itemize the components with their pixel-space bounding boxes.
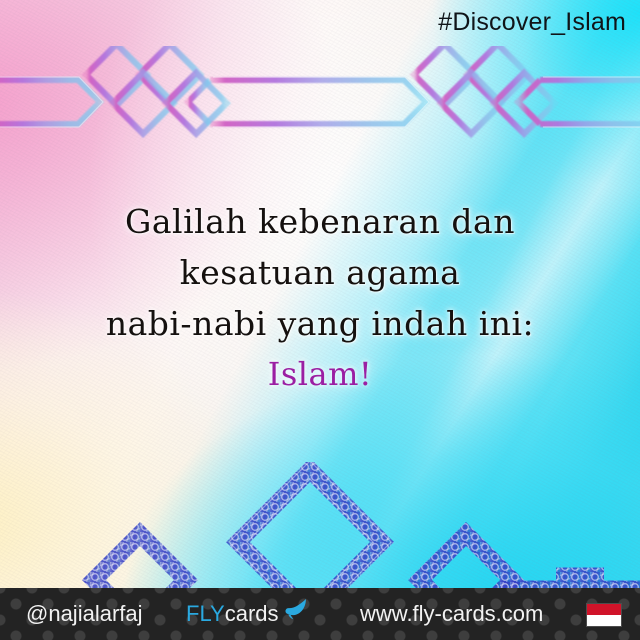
dove-icon xyxy=(282,598,308,626)
indonesia-flag-icon xyxy=(586,603,622,627)
flag-stripe-white xyxy=(587,615,621,626)
quote-line-3: nabi-nabi yang indah ini: xyxy=(0,298,640,349)
top-ornament xyxy=(0,46,640,166)
quote-block: Galilah kebenaran dan kesatuan agama nab… xyxy=(0,196,640,400)
bottom-ornament xyxy=(0,462,640,592)
social-quote-card: #Discover_Islam Galilah kebenaran dan ke… xyxy=(0,0,640,640)
footer-bar: @najialarfaj FLY cards www.fly-cards.com xyxy=(0,588,640,640)
twitter-handle[interactable]: @najialarfaj xyxy=(26,601,143,627)
brand-fly-text: FLY xyxy=(186,601,225,627)
brand-cards-text: cards xyxy=(225,601,279,627)
flag-stripe-red xyxy=(587,604,621,615)
quote-accent: Islam! xyxy=(0,349,640,400)
website-url[interactable]: www.fly-cards.com xyxy=(360,601,543,627)
brand-logo[interactable]: FLY cards xyxy=(186,601,308,627)
hashtag-label: #Discover_Islam xyxy=(438,8,626,37)
quote-line-2: kesatuan agama xyxy=(0,247,640,298)
quote-line-1: Galilah kebenaran dan xyxy=(0,196,640,247)
